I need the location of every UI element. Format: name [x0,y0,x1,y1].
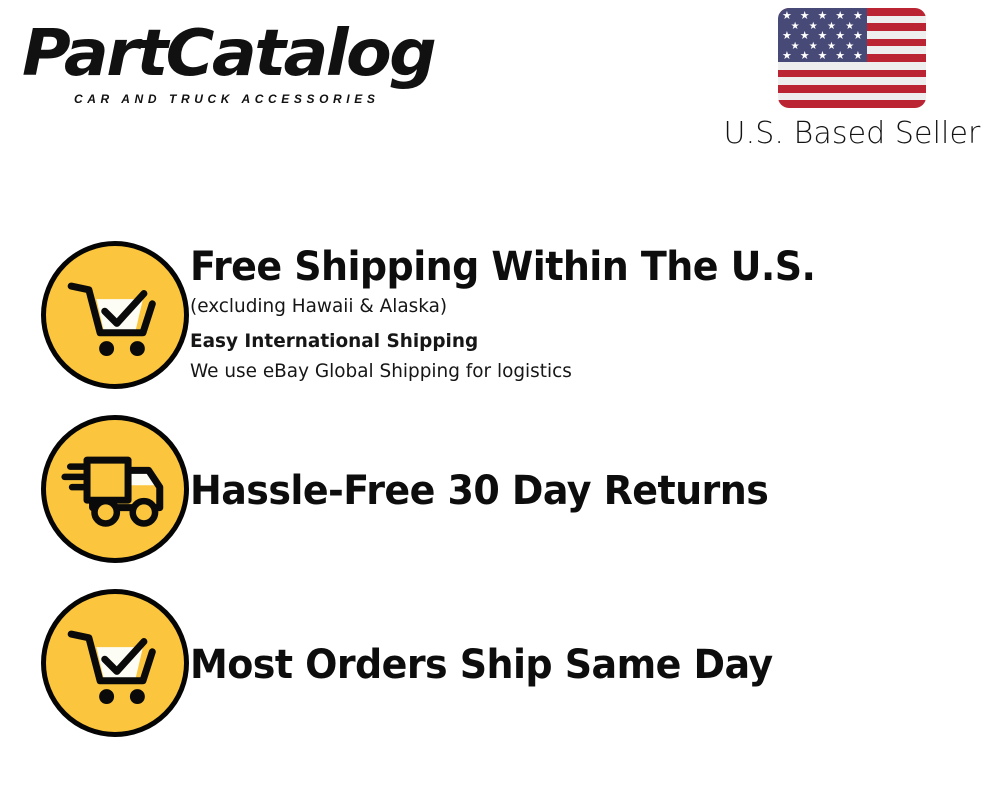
shopping-cart-check-icon [41,241,189,389]
brand-wordmark: PartCatalog [22,18,511,90]
feature-row: Hassle-Free 30 Day Returns [0,415,1000,589]
brand-logo: PartCatalog CAR AND TRUCK ACCESSORIES [22,18,492,106]
feature-subline: We use eBay Global Shipping for logistic… [190,356,976,386]
flag-canton: ★★★★★ ★★★★ ★★★★★ ★★★★ ★★★★★ [778,8,867,62]
us-flag-icon: ★★★★★ ★★★★ ★★★★★ ★★★★ ★★★★★ [778,8,926,108]
feature-icon-container [0,241,190,389]
feature-list: Free Shipping Within The U.S. (excluding… [0,241,1000,763]
feature-row: Most Orders Ship Same Day [0,589,1000,763]
feature-headline: Free Shipping Within The U.S. [190,243,960,291]
brand-tagline: CAR AND TRUCK ACCESSORIES [74,92,492,106]
us-based-seller-badge: ★★★★★ ★★★★ ★★★★★ ★★★★ ★★★★★ U.S. Based S… [718,8,986,152]
shopping-cart-check-icon [41,589,189,737]
delivery-truck-icon [41,415,189,563]
feature-icon-container [0,415,190,563]
shipping-info-banner: PartCatalog CAR AND TRUCK ACCESSORIES ★★… [0,0,1000,800]
feature-text-block: Most Orders Ship Same Day [190,589,1000,689]
feature-icon-container [0,589,190,737]
feature-subline-bold: Easy International Shipping [190,326,976,356]
feature-text-block: Free Shipping Within The U.S. (excluding… [190,241,1000,386]
feature-headline: Most Orders Ship Same Day [190,641,960,689]
feature-text-block: Hassle-Free 30 Day Returns [190,415,1000,515]
us-based-seller-label: U.S. Based Seller [718,116,986,152]
feature-row: Free Shipping Within The U.S. (excluding… [0,241,1000,415]
feature-headline: Hassle-Free 30 Day Returns [190,467,960,515]
feature-subline: (excluding Hawaii & Alaska) [190,291,976,321]
